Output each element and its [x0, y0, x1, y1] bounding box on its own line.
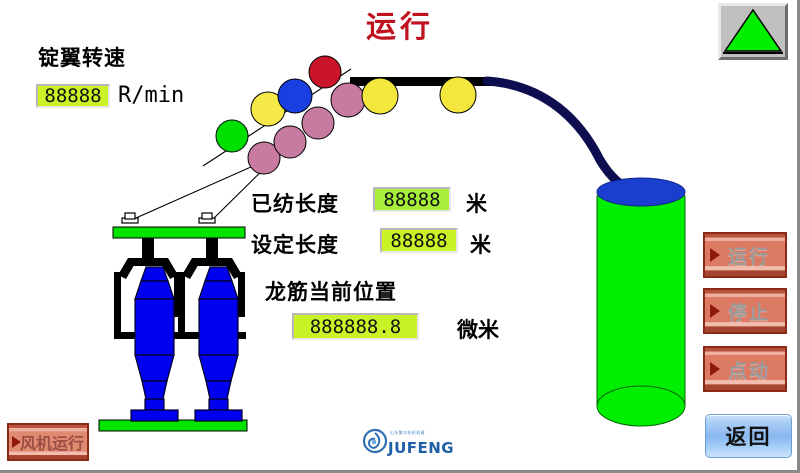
up-navigation-button[interactable]	[718, 3, 788, 60]
position-label: 龙筋当前位置	[265, 276, 397, 306]
run-button[interactable]: 运行	[703, 232, 787, 278]
run-button-label: 运行	[728, 242, 770, 269]
back-button[interactable]: 返回	[705, 414, 792, 458]
play-arrow-icon	[710, 362, 720, 376]
logo-subtitle: 山东聚丰纺织机械	[390, 430, 425, 436]
company-logo: 山东聚丰纺织机械 JUFENG	[362, 428, 450, 458]
set-length-label: 设定长度	[251, 229, 339, 259]
page-title: 运行	[0, 2, 800, 46]
fan-run-button[interactable]: 风机运行	[7, 423, 89, 461]
set-length-unit: 米	[470, 229, 491, 259]
back-button-label: 返回	[726, 421, 772, 451]
fan-run-button-label: 风机运行	[20, 430, 84, 454]
spun-length-value: 88888	[373, 187, 451, 212]
stop-button-label: 停止	[728, 298, 770, 325]
triangle-up-icon	[721, 6, 785, 57]
play-arrow-icon	[710, 304, 720, 318]
set-length-value: 88888	[380, 228, 458, 253]
jog-button-label: 点动	[728, 356, 770, 383]
stop-button[interactable]: 停止	[703, 288, 787, 334]
spindle-speed-label: 锭翼转速	[38, 42, 126, 72]
position-value: 888888.8	[292, 313, 419, 340]
swirl-droplet-icon	[362, 428, 388, 454]
hmi-screen: 运行	[0, 0, 800, 473]
spindle-speed-value: 88888	[36, 84, 110, 108]
logo-wordmark: JUFENG	[388, 439, 454, 457]
play-arrow-icon	[12, 436, 21, 448]
jog-button[interactable]: 点动	[703, 346, 787, 392]
spun-length-label: 已纺长度	[251, 188, 339, 218]
spun-length-unit: 米	[466, 188, 487, 218]
position-unit: 微米	[457, 314, 499, 344]
play-arrow-icon	[710, 248, 720, 262]
spindle-speed-unit: R/min	[118, 83, 184, 108]
